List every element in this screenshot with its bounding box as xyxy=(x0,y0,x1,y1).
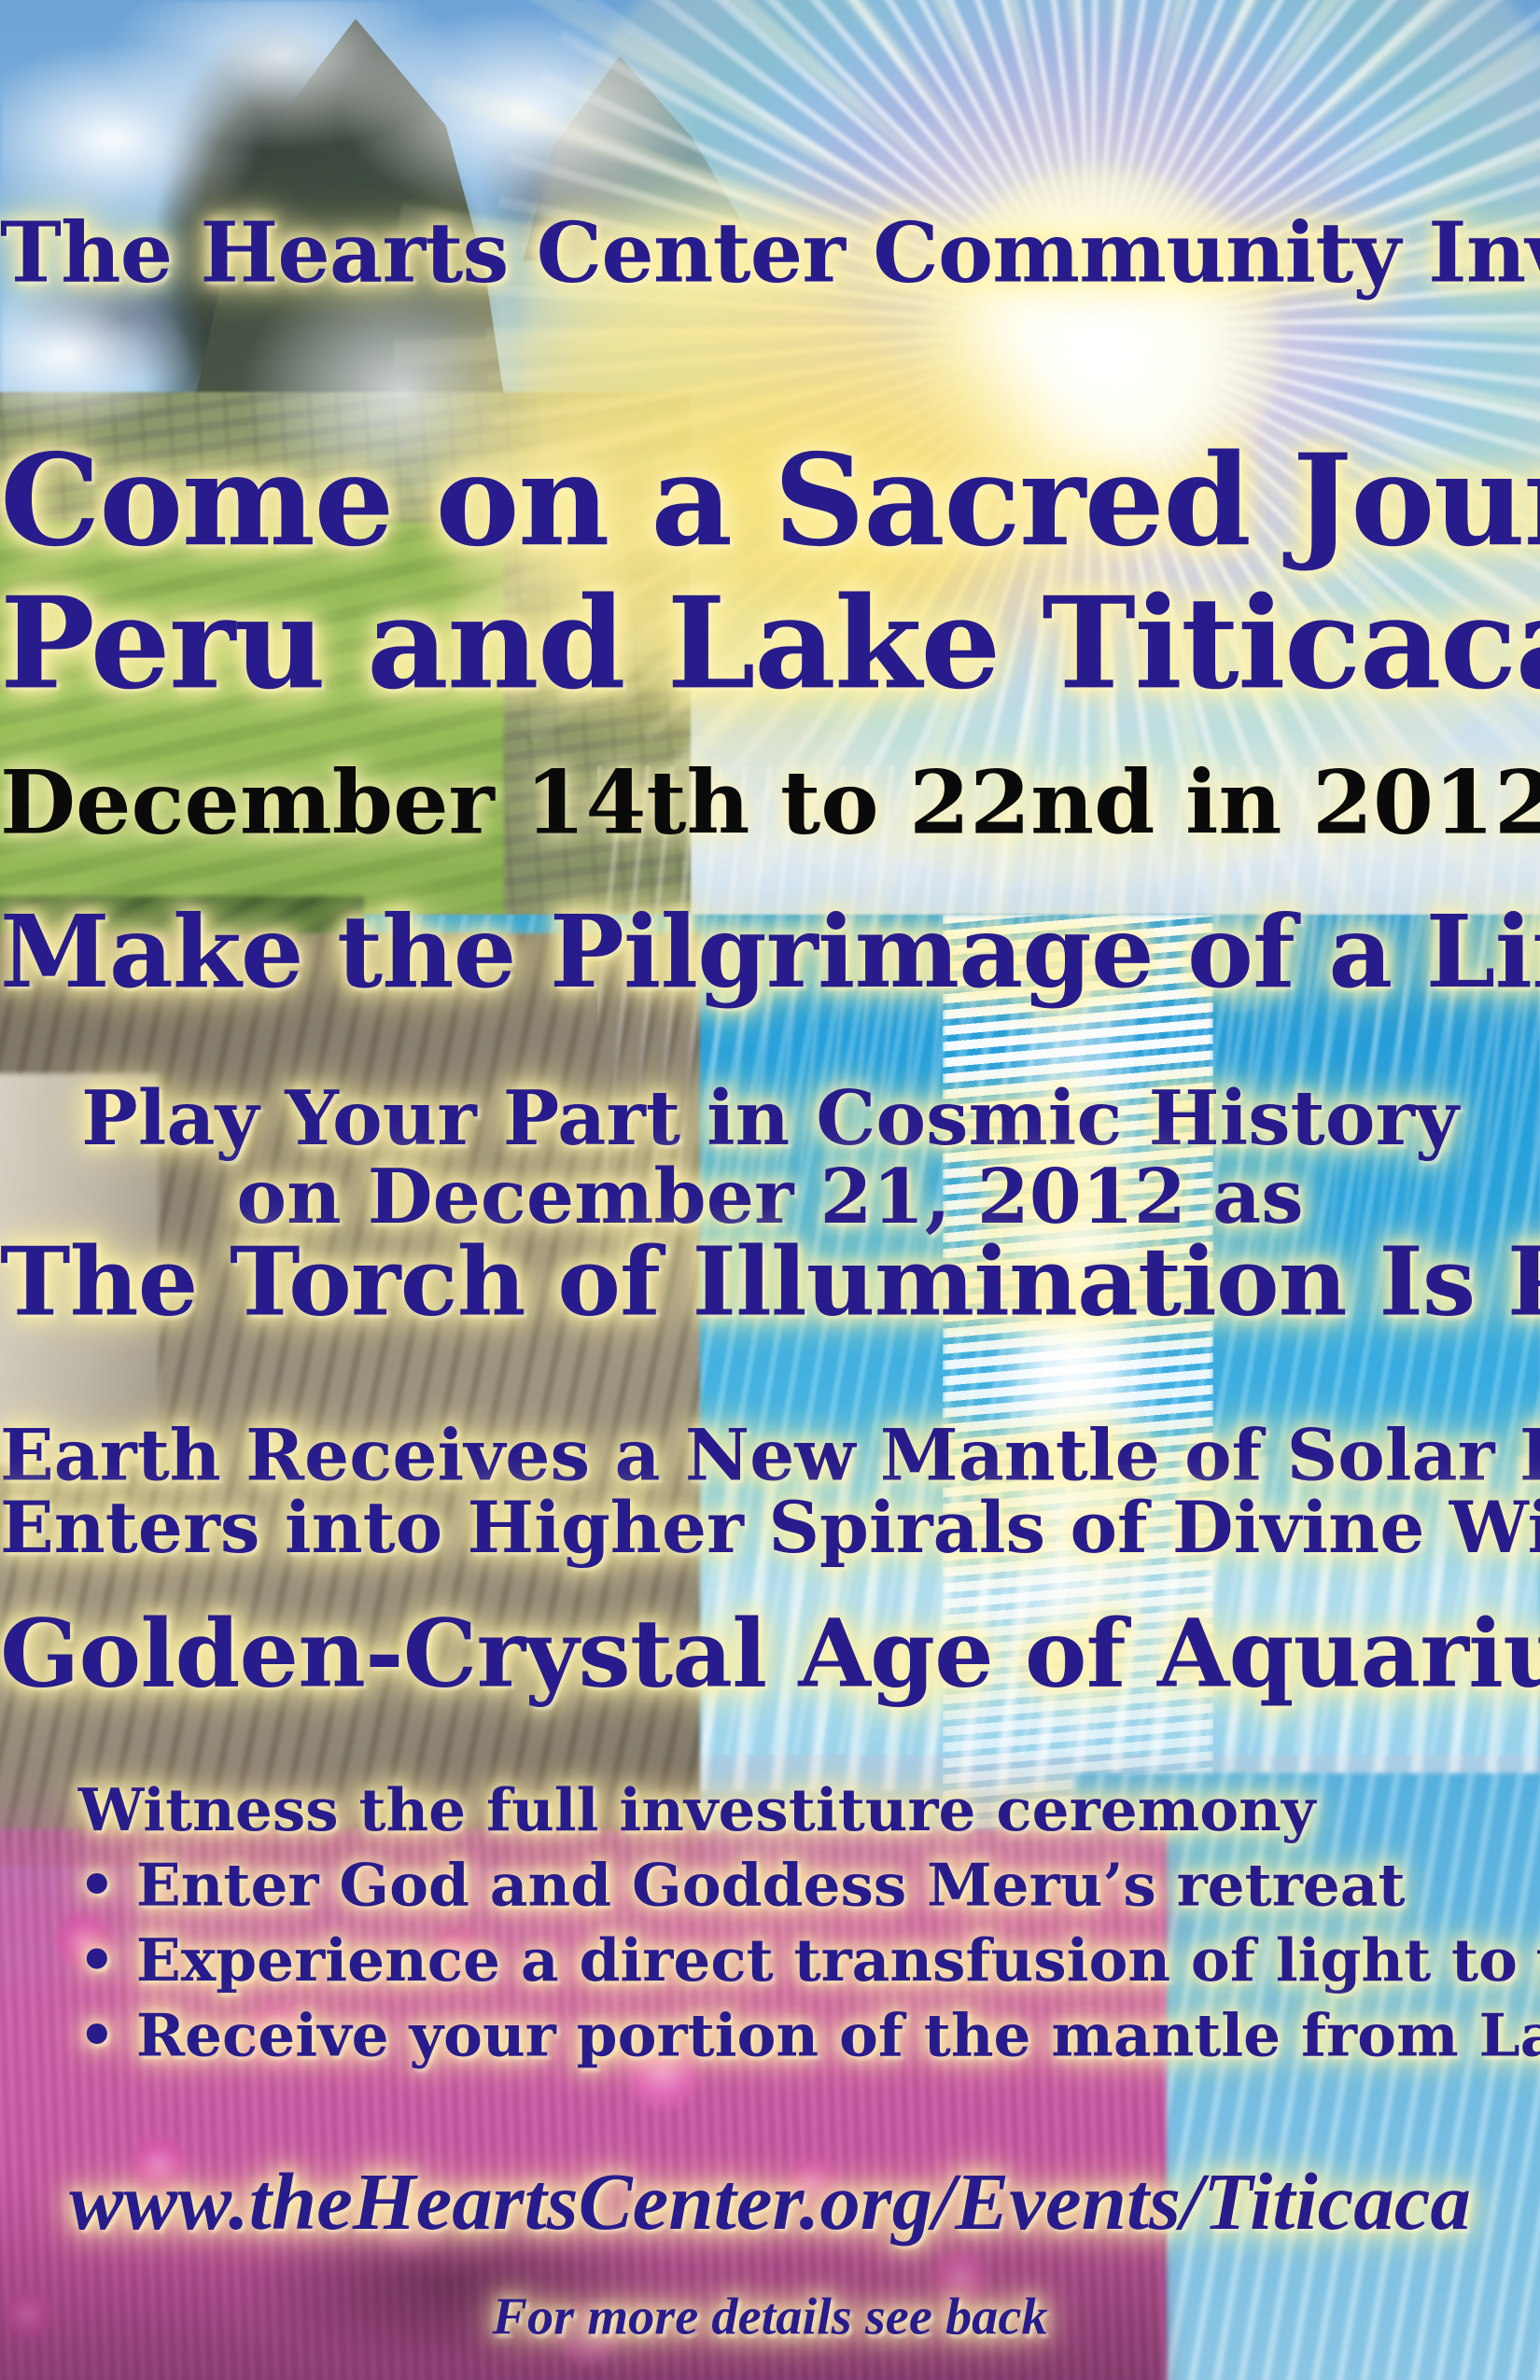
mantle-line-1: Earth Receives a New Mantle of Solar Rad… xyxy=(0,1421,1540,1493)
mantle-line-2: Enters into Higher Spirals of Divine Wis… xyxy=(0,1493,1540,1565)
list-item: • Receive your portion of the mantle fro… xyxy=(78,2000,1540,2075)
cosmic-history-line-1: Play Your Part in Cosmic History xyxy=(0,1080,1540,1156)
list-item: Witness the full investiture ceremony xyxy=(78,1774,1540,1849)
main-title-line-2: Peru and Lake Titicaca xyxy=(0,579,1540,707)
cosmic-history-line-2: on December 21, 2012 as xyxy=(0,1158,1540,1235)
invitation-line: The Hearts Center Community Invites You … xyxy=(0,211,1540,295)
pilgrimage-tagline: Make the Pilgrimage of a Lifetime— xyxy=(0,903,1540,1003)
event-poster: The Hearts Center Community Invites You … xyxy=(0,0,1540,2380)
torch-of-illumination-line: The Torch of Illumination Is Passed! xyxy=(0,1233,1540,1330)
see-back-note: For more details see back xyxy=(0,2290,1540,2345)
list-item: • Enter God and Goddess Meru’s retreat xyxy=(78,1850,1540,1925)
poster-text-content: The Hearts Center Community Invites You … xyxy=(0,0,1540,2380)
event-url[interactable]: www.theHeartsCenter.org/Events/Titicaca xyxy=(0,2161,1540,2244)
event-dates: December 14th to 22nd in 2012 xyxy=(0,760,1540,848)
event-highlights-list: Witness the full investiture ceremony • … xyxy=(78,1774,1540,2075)
golden-crystal-age-line: Golden-Crystal Age of Aquarius xyxy=(0,1606,1540,1701)
main-title-line-1: Come on a Sacred Journey to xyxy=(0,436,1540,565)
list-item: • Experience a direct transfusion of lig… xyxy=(78,1925,1540,1999)
